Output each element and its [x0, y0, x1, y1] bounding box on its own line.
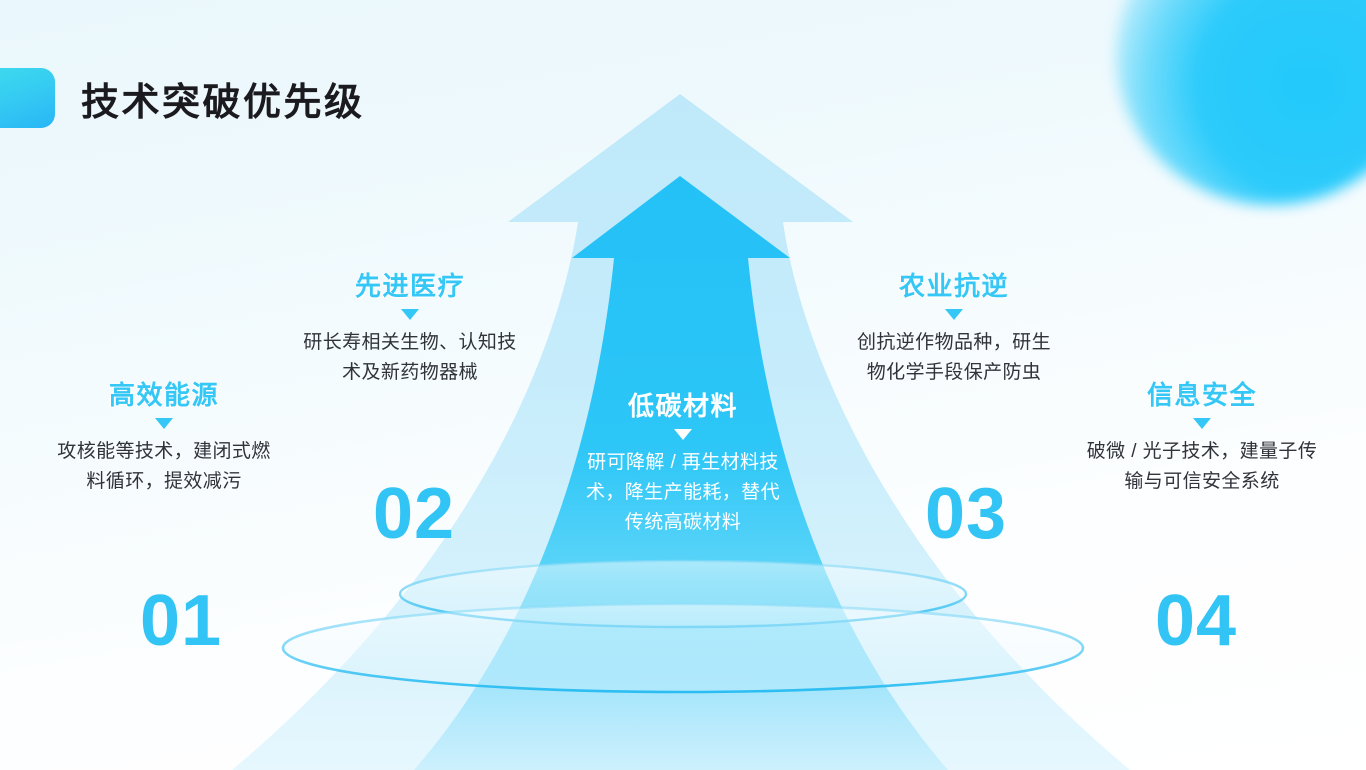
- corner-blob-decoration: [1116, 0, 1366, 205]
- item-desc-lowcarbon: 研可降解 / 再生材料技术，降生产能耗，替代传统高碳材料: [583, 448, 783, 538]
- item-desc-infosec: 破微 / 光子技术，建量子传输与可信安全系统: [1086, 437, 1318, 497]
- item-title-energy: 高效能源: [48, 375, 280, 412]
- item-desc-agriculture: 创抗逆作物品种，研生物化学手段保产防虫: [848, 328, 1060, 388]
- triangle-down-icon: [674, 429, 692, 440]
- item-block-lowcarbon: 低碳材料 研可降解 / 再生材料技术，降生产能耗，替代传统高碳材料: [583, 386, 783, 538]
- page-title: 技术突破优先级: [81, 71, 365, 126]
- index-number-01: 01: [140, 585, 222, 657]
- index-number-04: 04: [1155, 585, 1237, 657]
- triangle-down-icon: [155, 418, 173, 429]
- triangle-down-icon: [1193, 418, 1211, 429]
- index-number-02: 02: [373, 478, 455, 550]
- item-block-infosec: 信息安全 破微 / 光子技术，建量子传输与可信安全系统: [1086, 375, 1318, 497]
- ring-upper: [400, 561, 966, 627]
- index-number-03: 03: [925, 478, 1007, 550]
- item-desc-energy: 攻核能等技术，建闭式燃料循环，提效减污: [48, 437, 280, 497]
- item-block-medical: 先进医疗 研长寿相关生物、认知技术及新药物器械: [296, 266, 524, 388]
- item-desc-medical: 研长寿相关生物、认知技术及新药物器械: [296, 328, 524, 388]
- item-block-agriculture: 农业抗逆 创抗逆作物品种，研生物化学手段保产防虫: [848, 266, 1060, 388]
- ring-lower: [283, 604, 1083, 692]
- item-title-medical: 先进医疗: [296, 266, 524, 303]
- triangle-down-icon: [945, 309, 963, 320]
- item-title-lowcarbon: 低碳材料: [583, 386, 783, 423]
- title-accent-block: [0, 68, 55, 128]
- item-title-agriculture: 农业抗逆: [848, 266, 1060, 303]
- item-block-energy: 高效能源 攻核能等技术，建闭式燃料循环，提效减污: [48, 375, 280, 497]
- slide-canvas: 技术突破优先级 高效能源 攻核能等技术，建闭式燃料循环，提效减污 先进医疗 研长…: [0, 0, 1366, 770]
- triangle-down-icon: [401, 309, 419, 320]
- slide-header: 技术突破优先级: [0, 68, 365, 128]
- item-title-infosec: 信息安全: [1086, 375, 1318, 412]
